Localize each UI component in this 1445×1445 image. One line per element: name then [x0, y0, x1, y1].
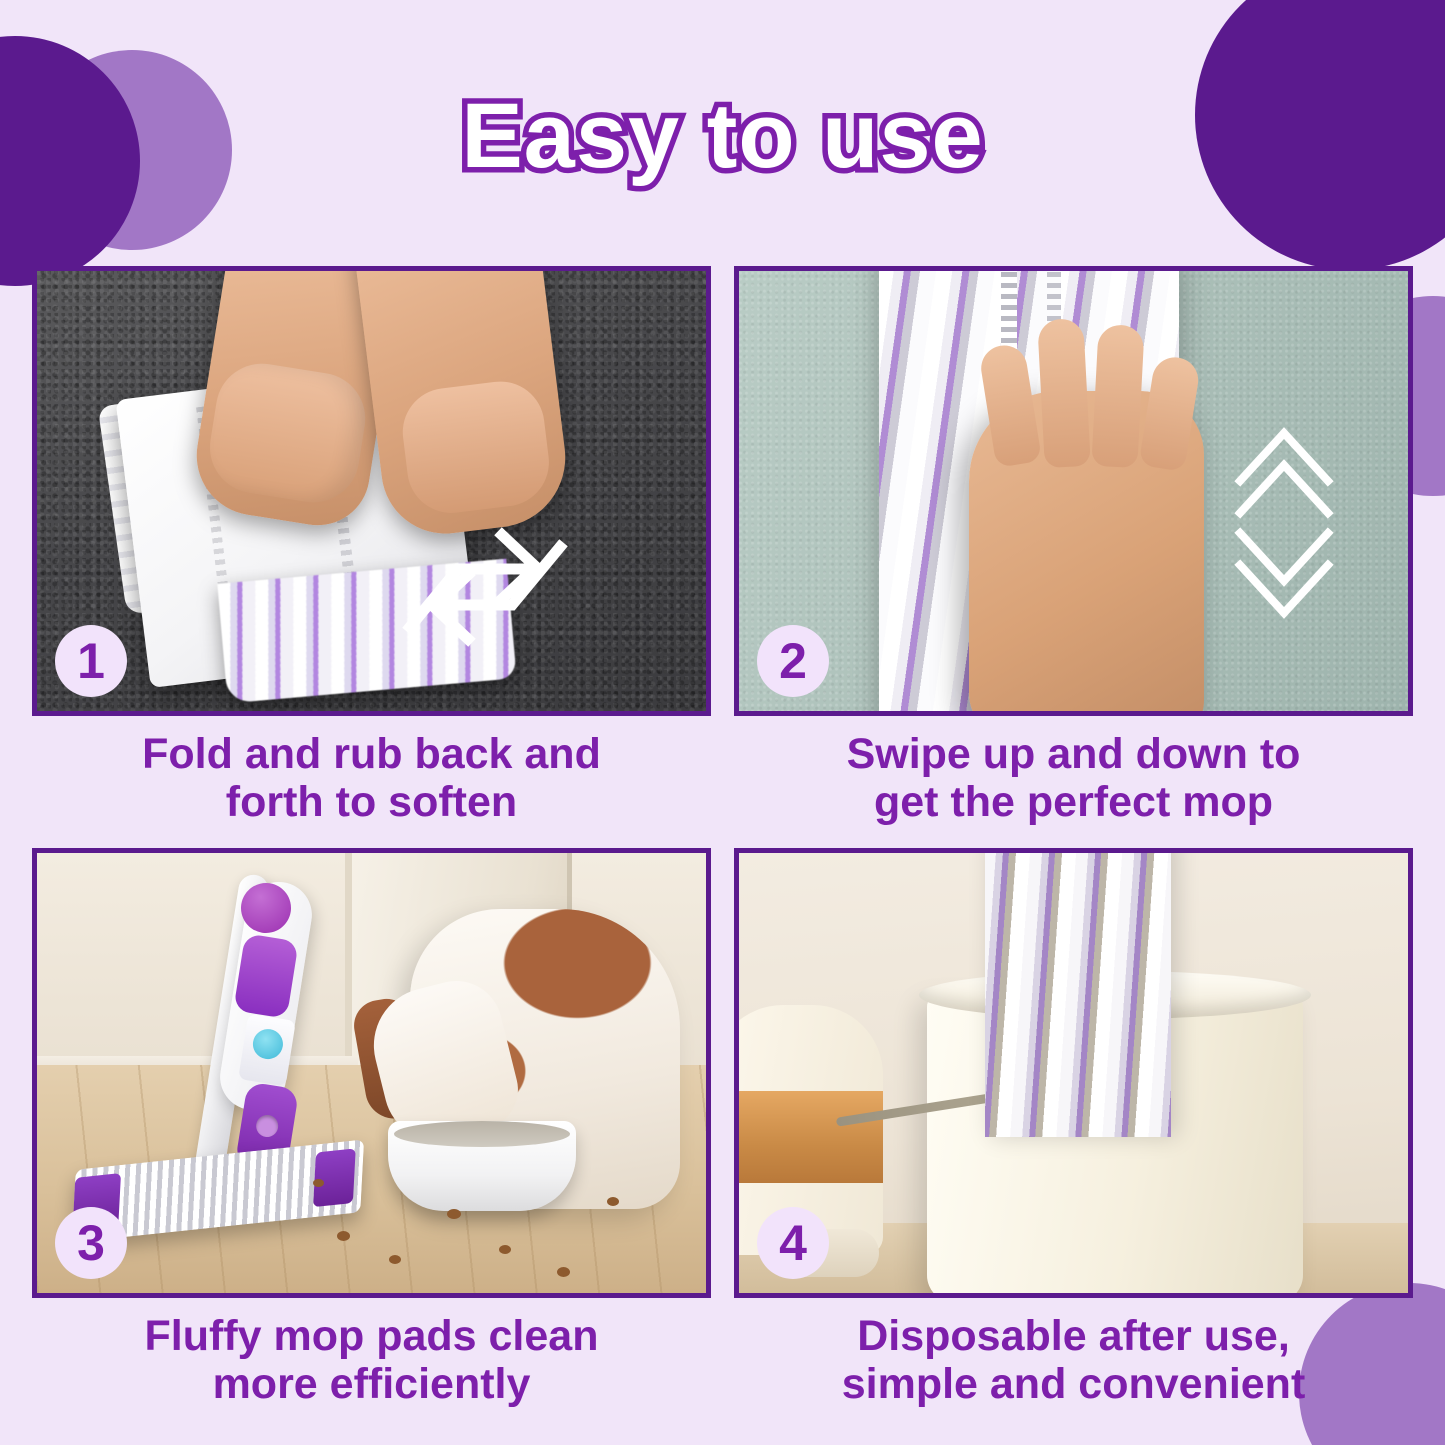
step-number-badge-3: 3 [55, 1207, 127, 1279]
step-card-1: 1 Fold and rub back and forth to soften [32, 266, 711, 826]
back-and-forth-arrows-icon [390, 507, 580, 667]
page-title: Easy to use [0, 84, 1445, 189]
appliance-wood-band [734, 1091, 883, 1183]
step-card-4: 4 Disposable after use, simple and conve… [734, 848, 1413, 1408]
step-card-2: 2 Swipe up and down to get the perfect m… [734, 266, 1413, 826]
mop-window [238, 1014, 296, 1087]
steps-grid: 1 Fold and rub back and forth to soften [32, 266, 1413, 1409]
step-card-3: 3 Fluffy mop pads clean more efficiently [32, 848, 711, 1408]
step-caption-2: Swipe up and down to get the perfect mop [734, 730, 1413, 826]
step-photo-3: 3 [32, 848, 711, 1298]
step-photo-2: 2 [734, 266, 1413, 716]
step-caption-3: Fluffy mop pads clean more efficiently [32, 1312, 711, 1408]
hand-swiping [969, 391, 1204, 716]
step-number-badge-1: 1 [55, 625, 127, 697]
used-mop-pad [985, 848, 1171, 1137]
step-number-badge-4: 4 [757, 1207, 829, 1279]
step-caption-1: Fold and rub back and forth to soften [32, 730, 711, 826]
step-photo-1: 1 [32, 266, 711, 716]
dog-bowl [388, 1121, 576, 1211]
step-number-badge-2: 2 [757, 625, 829, 697]
step-caption-4: Disposable after use, simple and conveni… [734, 1312, 1413, 1408]
step-photo-4: 4 [734, 848, 1413, 1298]
finger [1037, 318, 1091, 468]
up-down-chevrons-icon [1228, 421, 1340, 621]
finger [1091, 324, 1144, 468]
